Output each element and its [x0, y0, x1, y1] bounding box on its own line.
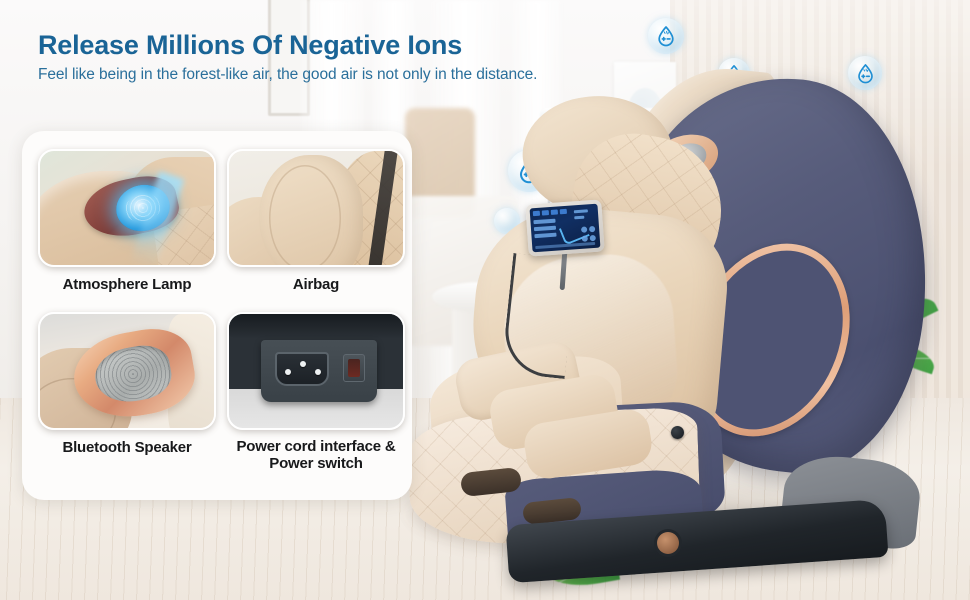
page-subtitle: Feel like being in the forest-like air, …: [38, 66, 537, 84]
bluetooth-speaker-photo: [38, 312, 216, 430]
rocker-switch-icon: [343, 354, 365, 382]
atmosphere-lamp-photo: [38, 149, 216, 267]
caster-wheel-icon: [657, 532, 679, 554]
ion-droplet-icon: [655, 25, 677, 47]
feature-card-power-cord[interactable]: Power cord interface & Power switch: [227, 312, 405, 473]
feature-panel: Atmosphere Lamp Airbag Bluetooth Speaker: [22, 131, 412, 500]
feature-card-atmosphere-lamp[interactable]: Atmosphere Lamp: [38, 149, 216, 294]
feature-label: Airbag: [293, 276, 339, 294]
page-title: Release Millions Of Negative Ions: [38, 30, 537, 60]
feature-label: Atmosphere Lamp: [63, 276, 192, 294]
heading-block: Release Millions Of Negative Ions Feel l…: [38, 30, 537, 84]
negative-ion-bubble-icon: [648, 18, 684, 54]
tablet-screen[interactable]: [530, 204, 601, 253]
airbag-photo: [227, 149, 405, 267]
power-cord-switch-photo: [227, 312, 405, 430]
feature-card-bluetooth-speaker[interactable]: Bluetooth Speaker: [38, 312, 216, 473]
side-power-button-icon[interactable]: [671, 426, 684, 439]
remote-tablet[interactable]: [525, 199, 604, 256]
feature-label: Bluetooth Speaker: [62, 439, 191, 457]
feature-card-airbag[interactable]: Airbag: [227, 149, 405, 294]
promo-banner: Release Millions Of Negative Ions Feel l…: [0, 0, 970, 600]
feature-label: Power cord interface & Power switch: [227, 438, 405, 473]
massage-chair: [395, 60, 970, 600]
iec-socket-icon: [275, 352, 329, 386]
feature-grid: Atmosphere Lamp Airbag Bluetooth Speaker: [38, 149, 396, 473]
